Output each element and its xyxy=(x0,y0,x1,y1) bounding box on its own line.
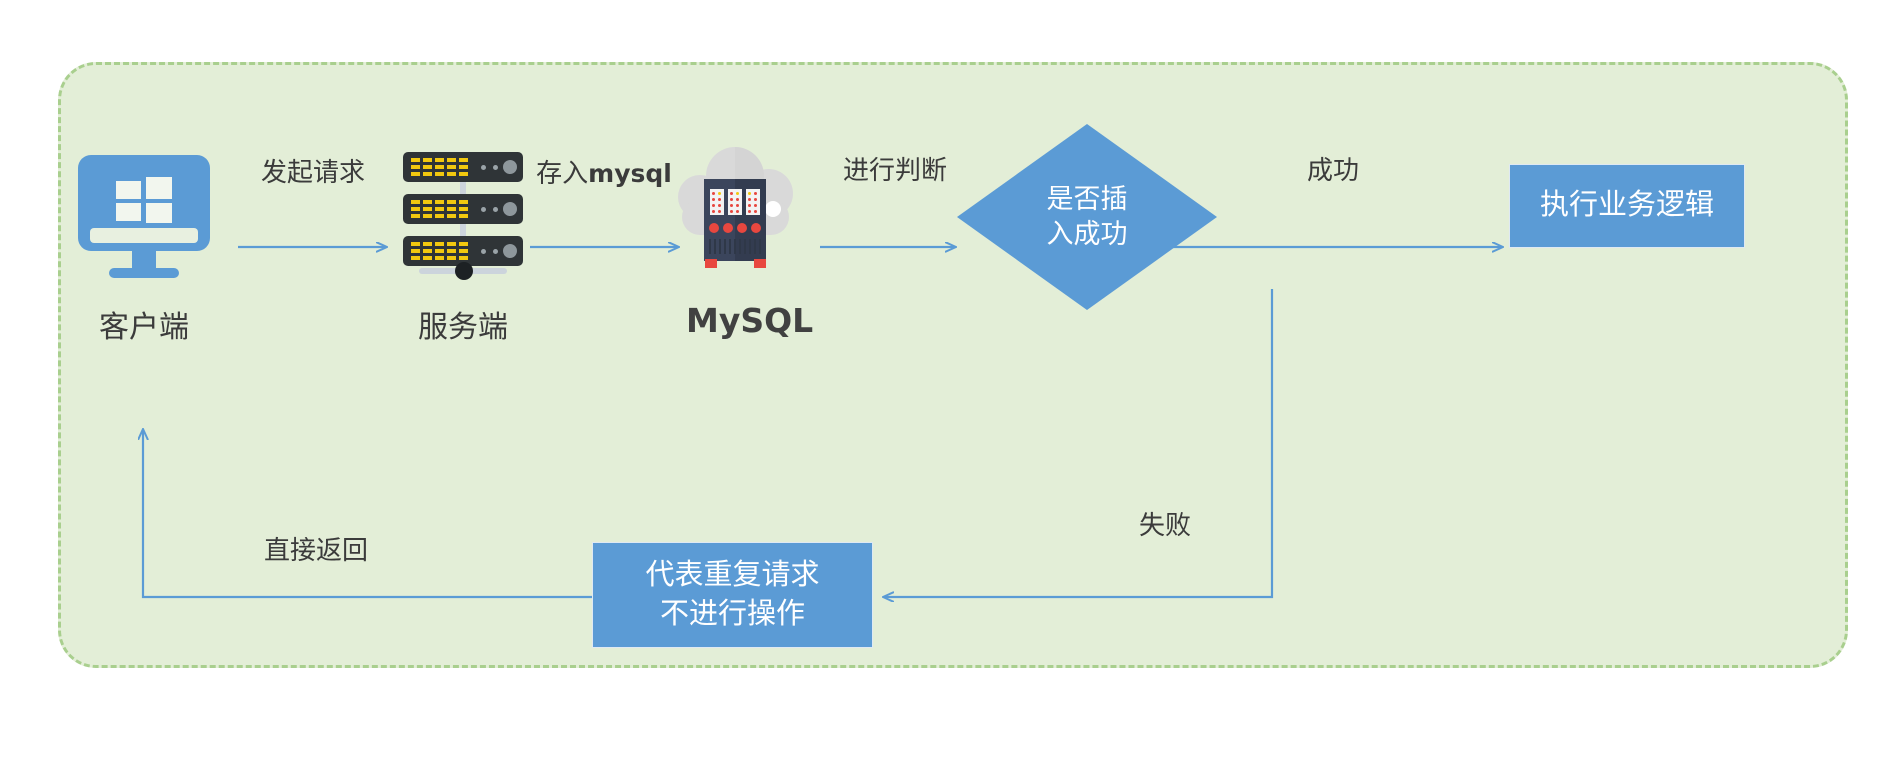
database-led xyxy=(709,223,719,233)
edge-label-client-to-server: 发起请求 xyxy=(240,152,386,189)
duplicate-request-box[interactable]: 代表重复请求 不进行操作 xyxy=(592,542,873,648)
rack-led-grid xyxy=(411,158,474,177)
database-panel xyxy=(728,189,742,215)
edge-label-en: mysql xyxy=(588,159,672,188)
diamond-label: 是否插 入成功 xyxy=(957,124,1217,310)
edge-label-cn: 存入 xyxy=(536,159,588,188)
database-panel xyxy=(710,189,724,215)
business-logic-label: 执行业务逻辑 xyxy=(1540,186,1714,225)
monitor-base xyxy=(109,268,179,278)
rack-unit xyxy=(403,194,523,224)
windows-logo-icon xyxy=(116,177,172,223)
edge-label-decision-to-duplicate: 失败 xyxy=(1092,505,1238,542)
database-foot xyxy=(705,259,717,268)
windows-desktop-icon xyxy=(78,155,210,277)
caption-server: 服务端 xyxy=(377,302,549,346)
monitor-strip xyxy=(90,228,198,243)
edge-label-decision-to-business: 成功 xyxy=(1260,150,1406,187)
database-led xyxy=(737,223,747,233)
cloud-database-icon xyxy=(678,147,793,274)
caption-client: 客户端 xyxy=(58,302,230,346)
diamond-label-line1: 是否插 xyxy=(1047,182,1128,217)
diagram-canvas: 客户端 发起请求 xyxy=(0,0,1897,761)
cloud-dot-icon xyxy=(765,201,781,217)
rack-led-grid xyxy=(411,200,474,219)
server-rack-icon xyxy=(403,152,523,277)
rack-stand-node xyxy=(455,262,473,280)
rack-unit xyxy=(403,152,523,182)
edge-label-mysql-to-decision: 进行判断 xyxy=(822,150,968,187)
diamond-label-line2: 入成功 xyxy=(1047,217,1128,252)
decision-diamond[interactable]: 是否插 入成功 xyxy=(957,124,1217,310)
database-foot xyxy=(754,259,766,268)
business-logic-box[interactable]: 执行业务逻辑 xyxy=(1509,164,1745,248)
database-led xyxy=(723,223,733,233)
edge-label-duplicate-to-client: 直接返回 xyxy=(243,530,389,567)
duplicate-request-line2: 不进行操作 xyxy=(660,595,805,634)
duplicate-request-line1: 代表重复请求 xyxy=(645,556,819,595)
database-panel xyxy=(746,189,760,215)
caption-mysql: MySQL xyxy=(686,301,813,340)
edge-label-server-to-mysql: 存入mysql xyxy=(531,153,677,190)
database-led xyxy=(751,223,761,233)
rack-led-grid xyxy=(411,242,474,261)
